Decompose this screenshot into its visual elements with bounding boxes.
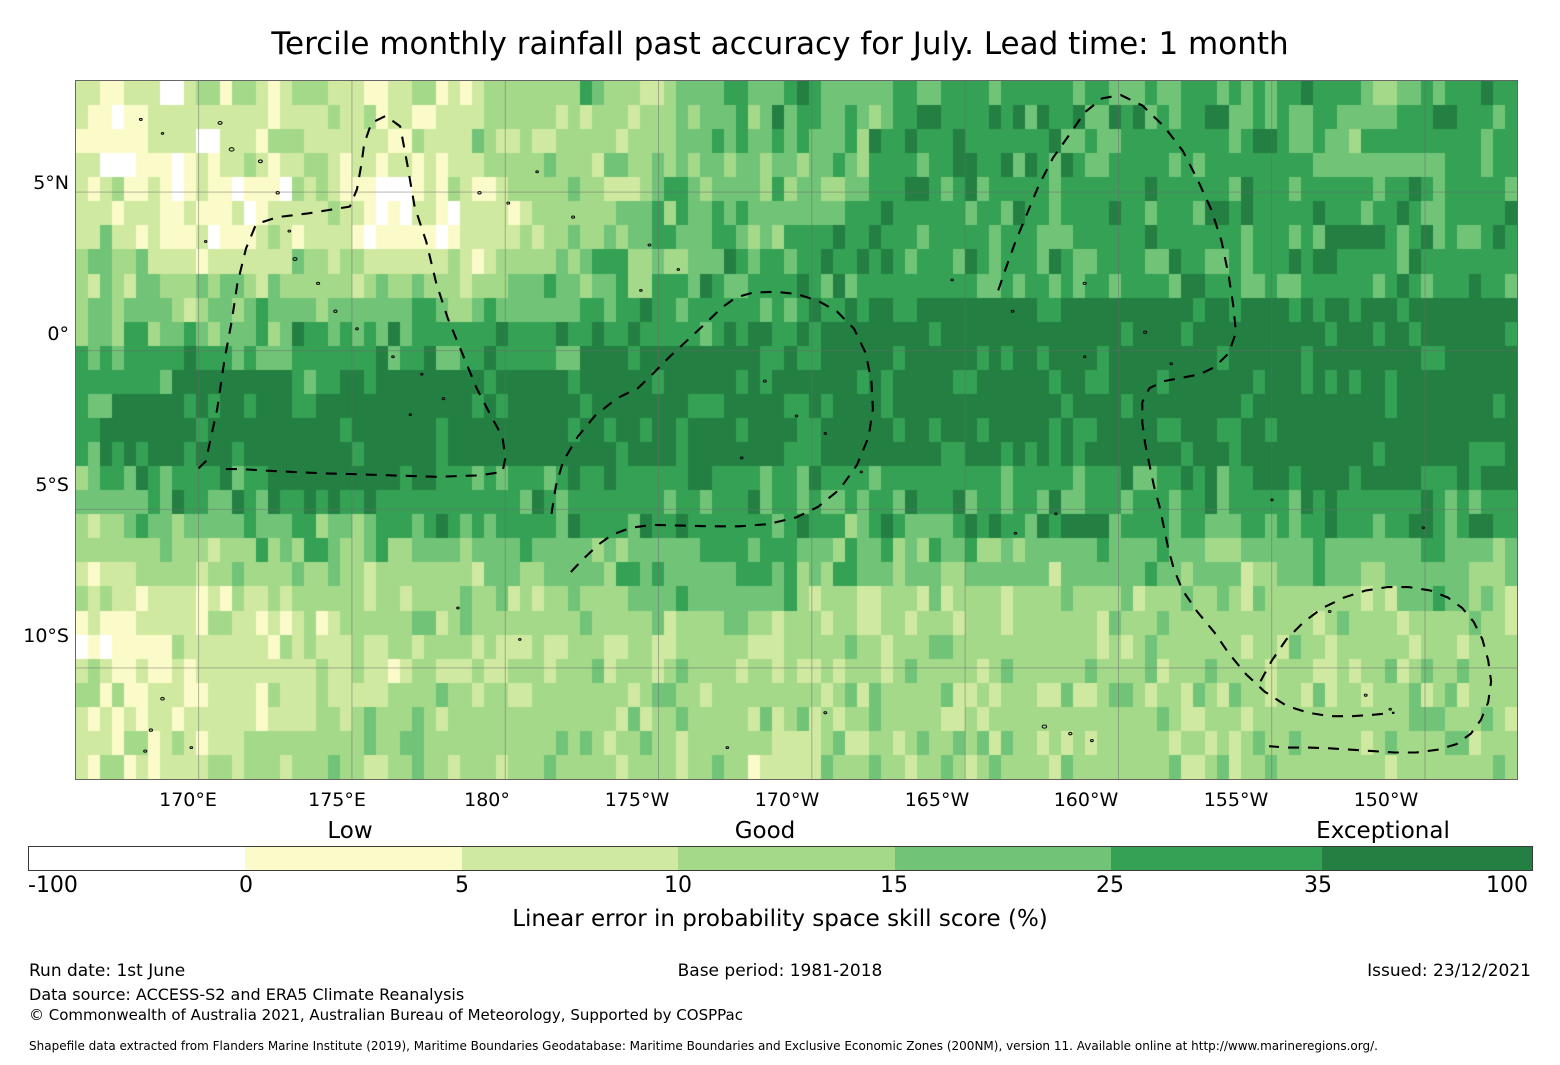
colorbar-tick-label: 25 — [1096, 873, 1124, 898]
forecast-map-page: Tercile monthly rainfall past accuracy f… — [0, 0, 1560, 1065]
longitude-label: 170°W — [755, 789, 820, 811]
page-title: Tercile monthly rainfall past accuracy f… — [0, 26, 1560, 62]
colorbar-tick-label: 5 — [455, 873, 469, 898]
colorbar-segment — [1111, 847, 1321, 870]
colorbar-tick-label: 15 — [880, 873, 908, 898]
latitude-label: 5°N — [9, 172, 69, 194]
data-source-text: Data source: ACCESS-S2 and ERA5 Climate … — [29, 985, 464, 1004]
longitude-label: 180° — [464, 789, 510, 811]
colorbar-tick-label: 0 — [239, 873, 253, 898]
colorbar-axis-label: Linear error in probability space skill … — [0, 906, 1560, 932]
longitude-label: 175°E — [308, 789, 366, 811]
colorbar-segment — [29, 847, 245, 870]
colorbar-tick-label: -100 — [28, 873, 78, 898]
latitude-label: 5°S — [9, 474, 69, 496]
shapefile-attribution-text: Shapefile data extracted from Flanders M… — [29, 1039, 1378, 1053]
latitude-label: 0° — [9, 323, 69, 345]
colorbar-tick-label: 100 — [1486, 873, 1528, 898]
colorbar-segment — [1322, 847, 1532, 870]
colorbar-category-label: Exceptional — [1316, 818, 1450, 844]
colorbar-tick-label: 10 — [664, 873, 692, 898]
longitude-label: 150°W — [1354, 789, 1419, 811]
colorbar-tick-label: 35 — [1304, 873, 1332, 898]
longitude-label: 155°W — [1204, 789, 1269, 811]
colorbar-segment — [678, 847, 894, 870]
colorbar-segment — [245, 847, 461, 870]
colorbar-segment — [462, 847, 678, 870]
skill-score-heatmap — [76, 81, 1517, 779]
map-plot-area — [75, 80, 1518, 780]
colorbar-category-label: Low — [327, 818, 372, 844]
copyright-text: © Commonwealth of Australia 2021, Austra… — [29, 1006, 743, 1024]
latitude-label: 10°S — [9, 625, 69, 647]
longitude-label: 170°E — [159, 789, 217, 811]
issued-date-text: Issued: 23/12/2021 — [1367, 961, 1531, 981]
longitude-label: 175°W — [605, 789, 670, 811]
colorbar — [28, 846, 1533, 871]
colorbar-category-label: Good — [735, 818, 796, 844]
colorbar-segment — [895, 847, 1111, 870]
base-period-text: Base period: 1981-2018 — [0, 961, 1560, 981]
longitude-label: 165°W — [905, 789, 970, 811]
longitude-label: 160°W — [1054, 789, 1119, 811]
